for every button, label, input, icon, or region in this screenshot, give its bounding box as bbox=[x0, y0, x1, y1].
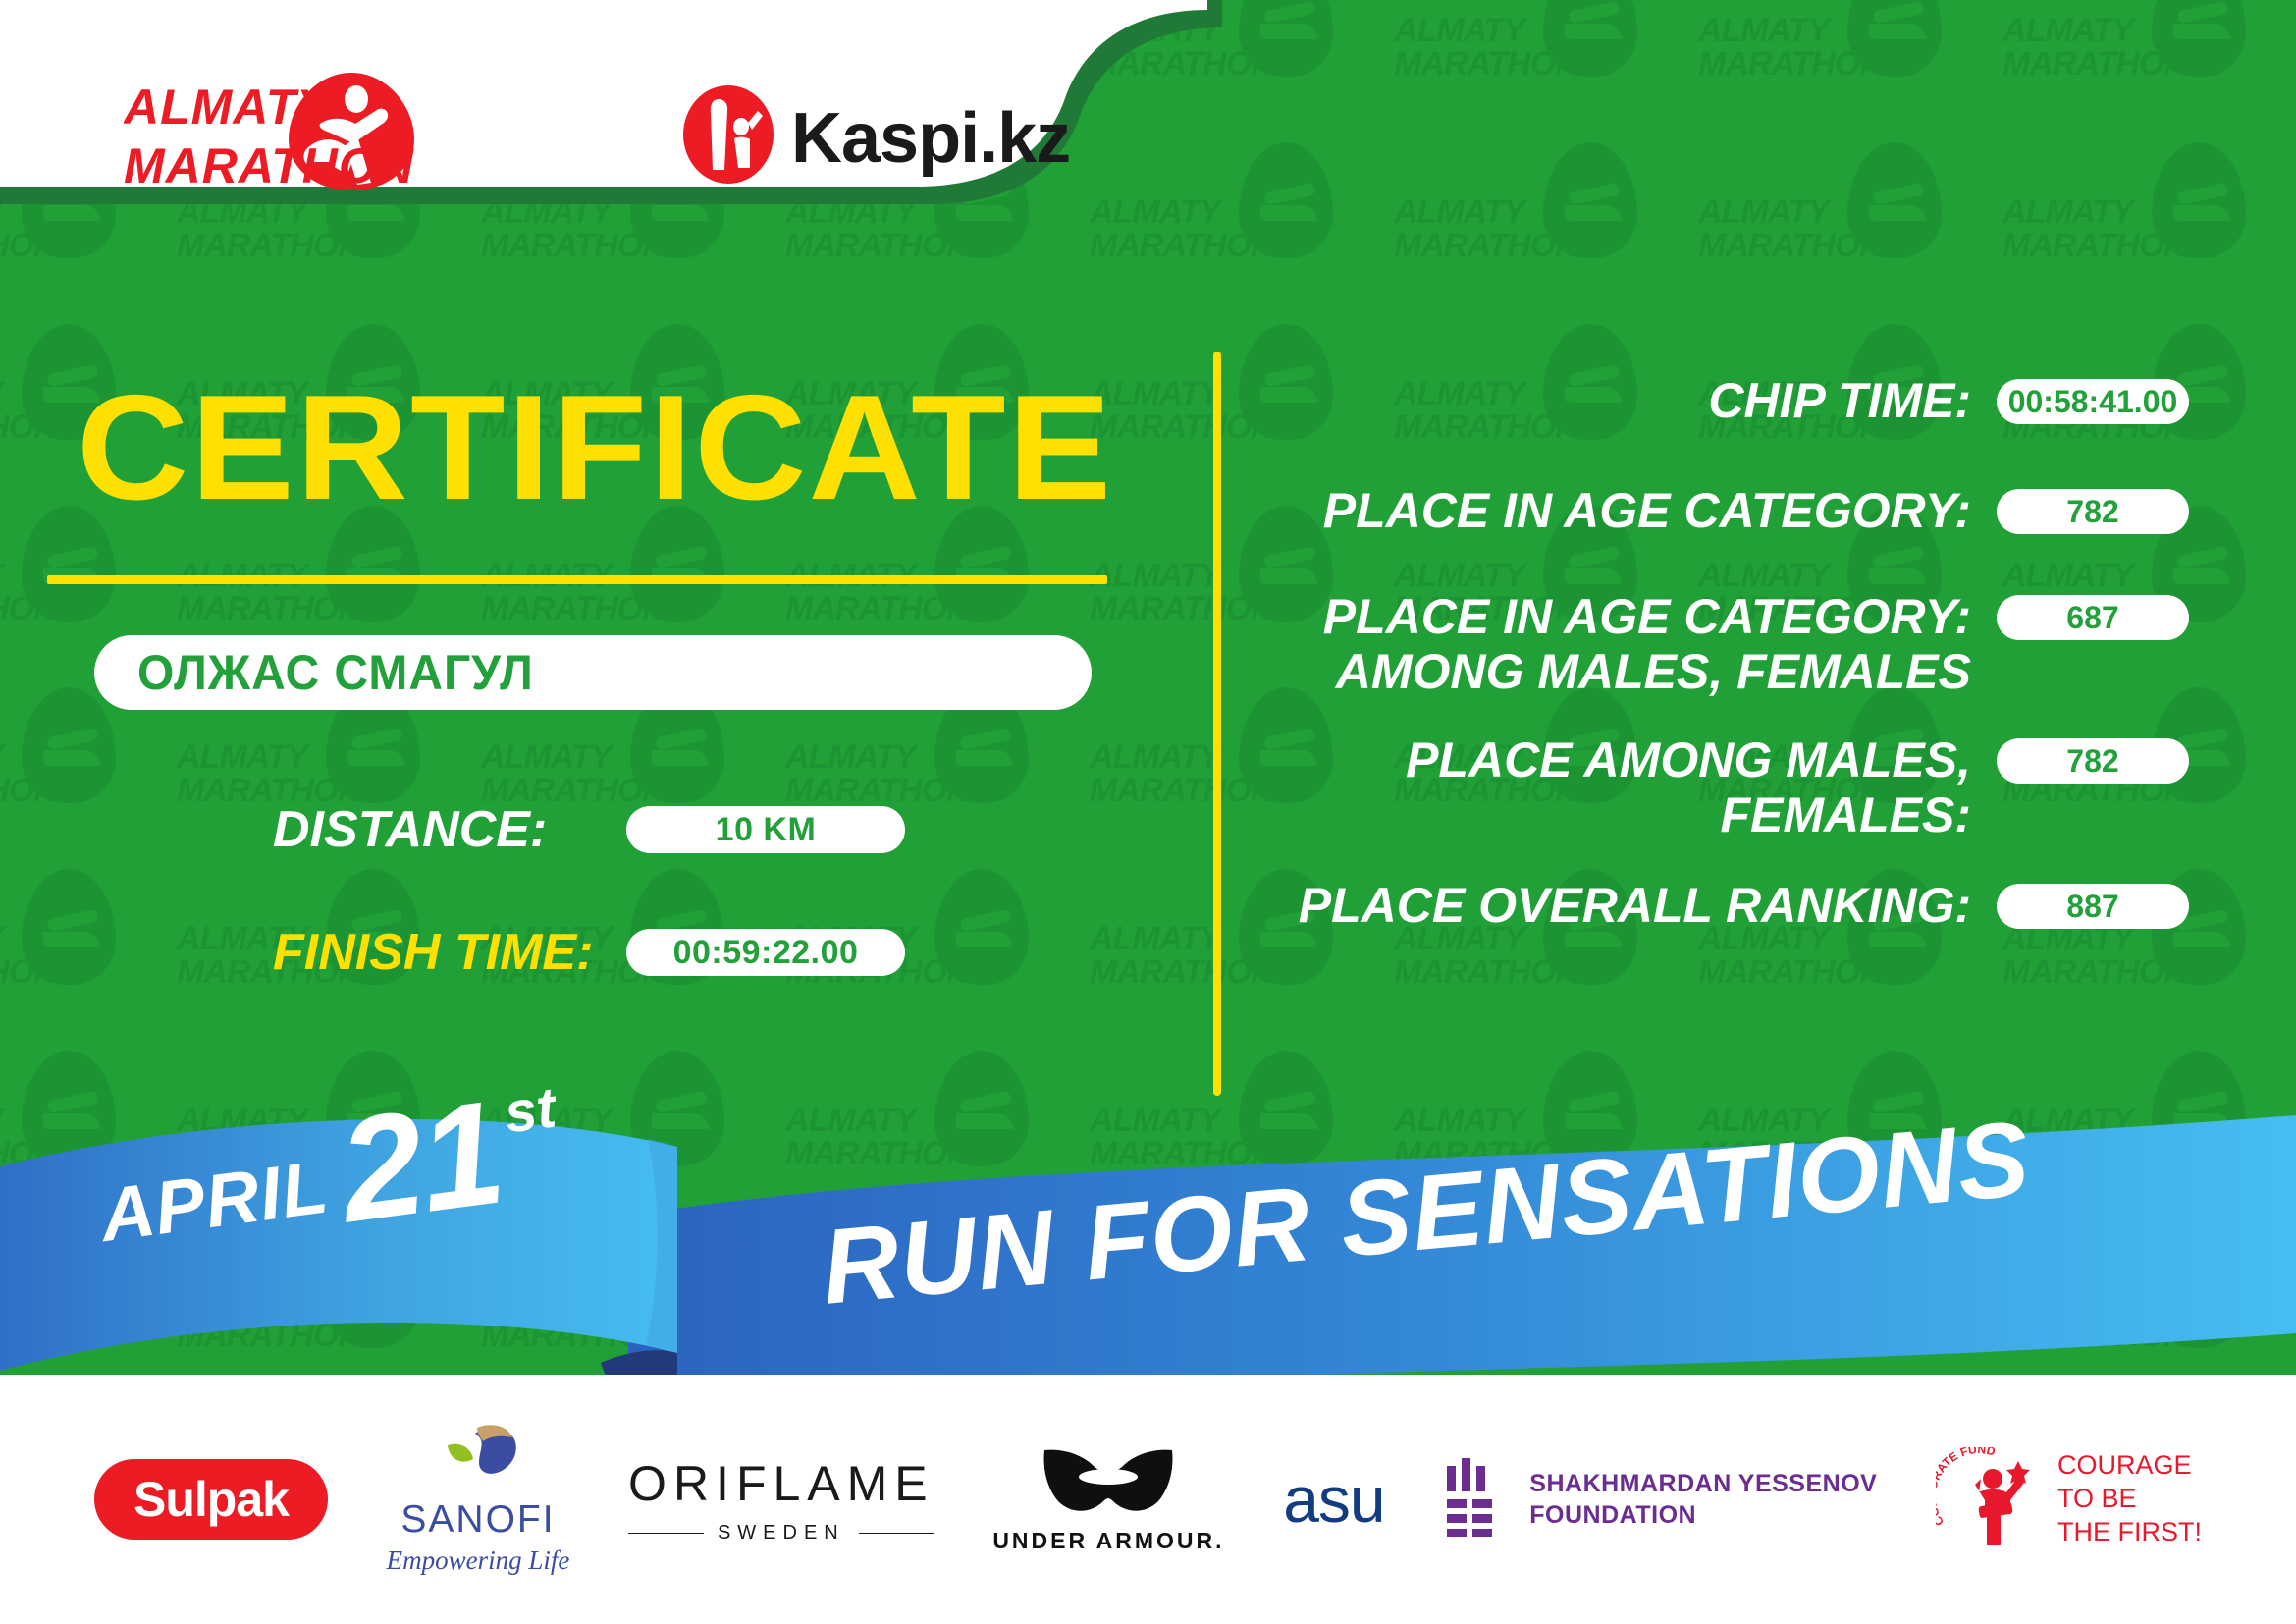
under-armour-mark-icon bbox=[1035, 1444, 1182, 1520]
courage-child-icon: CORPORATE FUND bbox=[1936, 1447, 2042, 1552]
watermark-tile: ALMATYMARATHON bbox=[1698, 142, 1993, 309]
asu-wordmark: asu bbox=[1283, 1462, 1384, 1537]
stat-row: PLACE AMONG MALES,FEMALES:782 bbox=[1276, 732, 2189, 842]
svg-text:Kaspi.kz: Kaspi.kz bbox=[791, 99, 1070, 178]
oriflame-wordmark: ORIFLAME bbox=[628, 1455, 934, 1512]
courage-line-2: TO BE bbox=[2057, 1483, 2202, 1516]
stat-label: CHIP TIME: bbox=[1276, 373, 1971, 428]
finish-time-value: 00:59:22.00 bbox=[626, 929, 905, 976]
sponsor-logo-oriflame: ORIFLAME SWEDEN bbox=[628, 1455, 934, 1544]
stat-value: 687 bbox=[1997, 595, 2189, 640]
watermark-tile: ALMATYMARATHON bbox=[1394, 142, 1688, 309]
page-title: CERTIFICATE bbox=[77, 373, 1113, 522]
stat-row: CHIP TIME:00:58:41.00 bbox=[1276, 373, 2189, 428]
stat-label: PLACE IN AGE CATEGORY: bbox=[1276, 483, 1971, 538]
finish-time-label: FINISH TIME: bbox=[273, 923, 626, 982]
sponsor-strip: Sulpak SANOFI Empowering Life ORIFLAME S… bbox=[0, 1375, 2296, 1624]
sponsor-logo-asu: asu bbox=[1283, 1462, 1384, 1537]
event-day: 21 bbox=[333, 1083, 508, 1238]
oriflame-rule-right bbox=[859, 1533, 934, 1534]
stat-value: 782 bbox=[1997, 489, 2189, 534]
stat-label: PLACE AMONG MALES,FEMALES: bbox=[1276, 732, 1971, 842]
oriflame-rule-left bbox=[628, 1533, 704, 1534]
kaspi-logo: Kaspi.kz bbox=[677, 83, 1090, 187]
oriflame-subline: SWEDEN bbox=[628, 1522, 934, 1544]
courage-wordmark: COURAGE TO BE THE FIRST! bbox=[2057, 1449, 2202, 1548]
courage-line-3: THE FIRST! bbox=[2057, 1516, 2202, 1549]
finish-time-row: FINISH TIME: 00:59:22.00 bbox=[273, 923, 905, 982]
distance-value: 10 KM bbox=[626, 806, 905, 853]
stat-label: PLACE IN AGE CATEGORY:AMONG MALES, FEMAL… bbox=[1276, 589, 1971, 699]
watermark-tile: ALMATYMARATHON bbox=[0, 687, 167, 854]
svg-text:ALMATY: ALMATY bbox=[124, 80, 334, 135]
stat-row: PLACE OVERALL RANKING:887 bbox=[1276, 878, 2189, 933]
distance-row: DISTANCE: 10 KM bbox=[273, 800, 905, 859]
sponsor-logo-sulpak: Sulpak bbox=[94, 1459, 328, 1540]
stat-value: 782 bbox=[1997, 738, 2189, 784]
title-underline bbox=[47, 575, 1107, 584]
watermark-tile: ALMATYMARATHON bbox=[2002, 0, 2296, 128]
yessenov-line-1: SHAKHMARDAN YESSENOV bbox=[1529, 1468, 1877, 1500]
oriflame-country: SWEDEN bbox=[718, 1522, 845, 1544]
stat-value: 00:58:41.00 bbox=[1997, 379, 2189, 424]
participant-name-field: ОЛЖАС СМАГУЛ bbox=[94, 635, 1092, 710]
sponsor-logo-under-armour: UNDER ARMOUR. bbox=[992, 1444, 1224, 1554]
sponsor-logo-yessenov: SHAKHMARDAN YESSENOV FOUNDATION bbox=[1443, 1458, 1877, 1542]
stat-row: PLACE IN AGE CATEGORY:AMONG MALES, FEMAL… bbox=[1276, 589, 2189, 699]
stat-value: 887 bbox=[1997, 884, 2189, 929]
under-armour-wordmark: UNDER ARMOUR. bbox=[992, 1528, 1224, 1554]
distance-label: DISTANCE: bbox=[273, 800, 626, 859]
watermark-tile: ALMATYMARATHON bbox=[0, 869, 167, 1036]
kaspi-figures-icon bbox=[683, 85, 774, 184]
stat-label: PLACE OVERALL RANKING: bbox=[1276, 878, 1971, 933]
courage-line-1: COURAGE bbox=[2057, 1449, 2202, 1483]
watermark-tile: ALMATYMARATHON bbox=[2002, 142, 2296, 309]
yessenov-line-2: FOUNDATION bbox=[1529, 1499, 1877, 1532]
watermark-tile: ALMATYMARATHON bbox=[1394, 0, 1688, 128]
sponsor-logo-sanofi: SANOFI Empowering Life bbox=[387, 1424, 570, 1576]
yessenov-mark-icon bbox=[1443, 1458, 1506, 1542]
yessenov-wordmark: SHAKHMARDAN YESSENOV FOUNDATION bbox=[1529, 1468, 1877, 1532]
sponsor-logo-courage: CORPORATE FUND COURAGE TO BE THE FIRST! bbox=[1936, 1447, 2202, 1552]
almaty-marathon-logo: ALMATY MARATHON bbox=[124, 67, 448, 199]
sanofi-wordmark: SANOFI bbox=[400, 1498, 555, 1542]
vertical-divider bbox=[1213, 352, 1221, 1096]
sanofi-mark-icon bbox=[436, 1424, 520, 1492]
svg-text:MARATHON: MARATHON bbox=[124, 138, 414, 193]
sanofi-tagline: Empowering Life bbox=[387, 1545, 570, 1576]
stats-list: CHIP TIME:00:58:41.00PLACE IN AGE CATEGO… bbox=[1276, 373, 2189, 978]
stat-row: PLACE IN AGE CATEGORY:782 bbox=[1276, 483, 2189, 538]
participant-name-value: ОЛЖАС СМАГУЛ bbox=[137, 644, 534, 701]
watermark-tile: ALMATYMARATHON bbox=[1698, 0, 1993, 128]
